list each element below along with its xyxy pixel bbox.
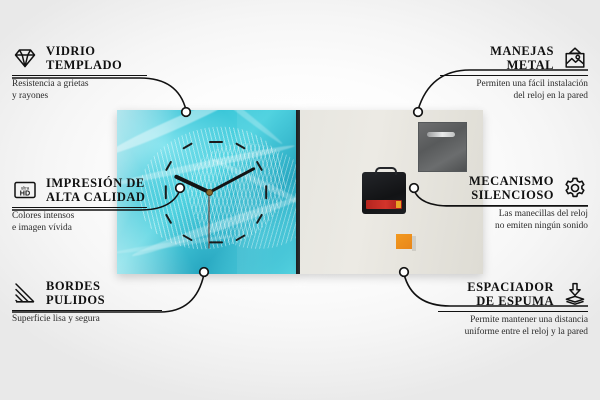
feature-divider xyxy=(440,75,588,76)
infographic-canvas: VIDRIO TEMPLADO Resistencia a grietas y … xyxy=(0,0,600,400)
feature-divider xyxy=(12,207,147,208)
feature-title: IMPRESIÓN DE ALTA CALIDAD xyxy=(46,176,145,204)
foam-spacer-side xyxy=(412,236,416,251)
glass-sheen xyxy=(237,110,277,274)
clock-tick xyxy=(209,241,223,243)
mechanism-hook xyxy=(375,167,397,175)
feature-vidrio-templado: VIDRIO TEMPLADO Resistencia a grietas y … xyxy=(12,44,147,102)
feature-divider xyxy=(440,205,588,206)
feature-description: Permiten una fácil instalación del reloj… xyxy=(440,79,588,102)
clock-mechanism xyxy=(362,172,406,214)
feature-description: Permite mantener una distancia uniforme … xyxy=(438,315,588,338)
battery xyxy=(366,200,402,209)
feature-manejas-metal: MANEJAS METAL Permiten una fácil instala… xyxy=(440,44,588,102)
metal-hanger-plate xyxy=(418,122,467,172)
clock-center-pivot xyxy=(206,189,213,196)
feature-description: Superficie lisa y segura xyxy=(12,314,162,326)
battery-terminal xyxy=(396,201,401,208)
feature-title: BORDES PULIDOS xyxy=(46,279,105,307)
feature-description: Resistencia a grietas y rayones xyxy=(12,79,147,102)
ultra-hd-icon: ultra HD xyxy=(12,177,38,203)
feature-impresion-alta-calidad: ultra HD IMPRESIÓN DE ALTA CALIDAD Color… xyxy=(12,176,147,234)
clock-tick xyxy=(164,185,166,199)
feature-title: VIDRIO TEMPLADO xyxy=(46,44,122,72)
feature-bordes-pulidos: BORDES PULIDOS Superficie lisa y segura xyxy=(12,279,162,326)
foam-spacer-arrow-icon xyxy=(562,281,588,307)
gear-icon xyxy=(562,175,588,201)
feature-title: MECANISMO SILENCIOSO xyxy=(469,174,554,202)
svg-text:HD: HD xyxy=(20,188,30,197)
hanger-slot xyxy=(427,132,455,137)
feature-description: Las manecillas del reloj no emiten ningú… xyxy=(440,209,588,232)
clock-second-hand xyxy=(208,192,209,248)
feature-description: Colores intensos e imagen vívida xyxy=(12,211,147,234)
picture-frame-hanging-icon xyxy=(562,45,588,71)
feature-title: MANEJAS METAL xyxy=(490,44,554,72)
feature-title: ESPACIADOR DE ESPUMA xyxy=(467,280,554,308)
diamond-icon xyxy=(12,45,38,71)
foam-spacer xyxy=(396,234,412,249)
product-image xyxy=(117,110,483,274)
feature-divider xyxy=(12,75,147,76)
feature-espaciador-espuma: ESPACIADOR DE ESPUMA Permite mantener un… xyxy=(438,280,588,338)
feature-mecanismo-silencioso: MECANISMO SILENCIOSO Las manecillas del … xyxy=(440,174,588,232)
polished-edge-icon xyxy=(12,280,38,306)
feature-divider xyxy=(438,311,588,312)
clock-tick xyxy=(264,185,266,199)
feature-divider xyxy=(12,310,162,311)
